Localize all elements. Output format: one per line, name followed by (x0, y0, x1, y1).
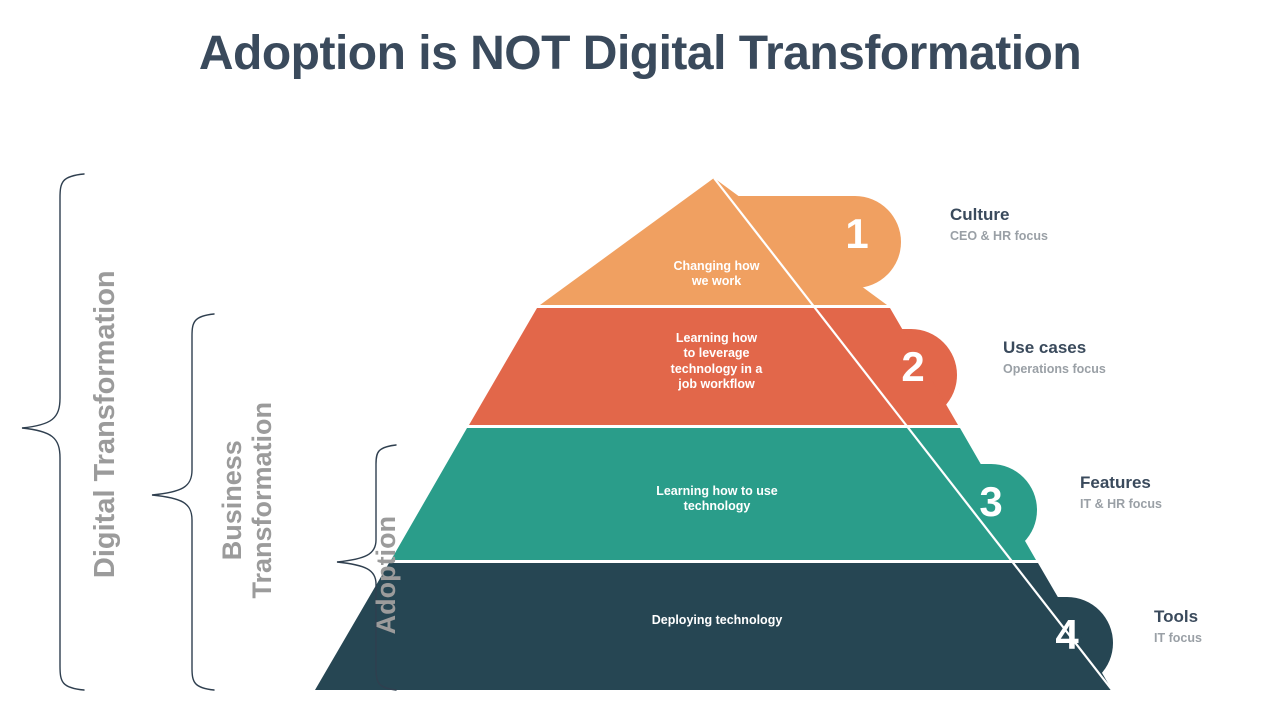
caption-subtitle-4: IT focus (1154, 630, 1202, 646)
pyramid-band-2[interactable] (469, 308, 958, 425)
brace-digital-transformation (22, 174, 84, 690)
brace-business-transformation (152, 314, 214, 690)
caption-subtitle-2: Operations focus (1003, 361, 1106, 377)
pyramid-separator-1 (537, 305, 890, 308)
caption-title-1: Culture (950, 204, 1048, 225)
caption-level-3: Features IT & HR focus (1080, 472, 1162, 513)
brace-label-business-transformation: Business Transformation (217, 310, 277, 690)
caption-title-3: Features (1080, 472, 1162, 493)
pyramid-separator-3 (389, 560, 1038, 563)
caption-level-4: Tools IT focus (1154, 606, 1202, 647)
caption-subtitle-1: CEO & HR focus (950, 228, 1048, 244)
brace-label-digital-transformation: Digital Transformation (90, 224, 120, 624)
brace-label-adoption: Adoption (372, 435, 400, 715)
pyramid-band-4[interactable] (315, 563, 1112, 690)
caption-title-4: Tools (1154, 606, 1202, 627)
caption-level-1: Culture CEO & HR focus (950, 204, 1048, 245)
slide-canvas: Adoption is NOT Digital Transformation (0, 0, 1280, 720)
caption-subtitle-3: IT & HR focus (1080, 496, 1162, 512)
pyramid-band-3[interactable] (391, 428, 1036, 560)
caption-title-2: Use cases (1003, 337, 1106, 358)
caption-level-2: Use cases Operations focus (1003, 337, 1106, 378)
pyramid-separator-2 (467, 425, 960, 428)
